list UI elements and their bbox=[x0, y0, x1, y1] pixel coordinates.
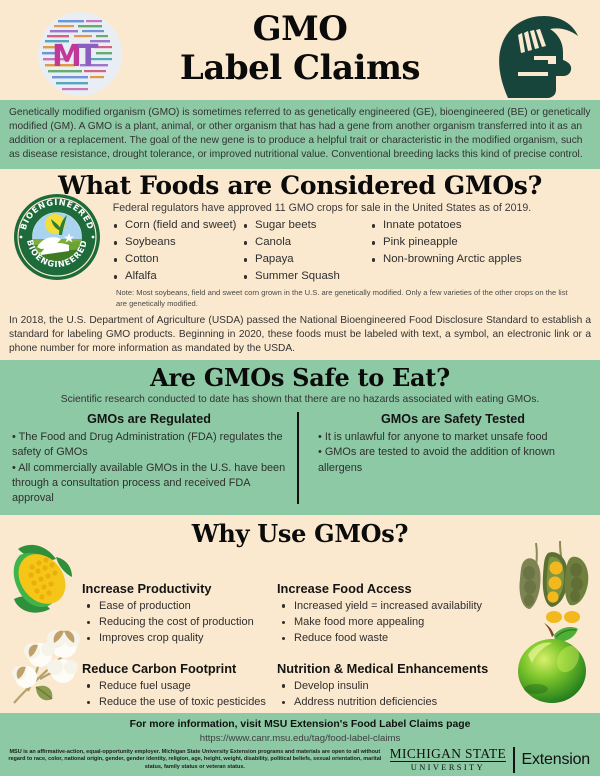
list-item: Non-browning Arctic apples bbox=[370, 251, 522, 268]
msu-line-1: MICHIGAN STATE bbox=[390, 747, 506, 762]
column-divider bbox=[297, 412, 299, 504]
list-item: Develop insulin bbox=[277, 678, 522, 694]
regulated-heading: GMOs are Regulated bbox=[12, 412, 286, 426]
list-item: Address nutrition deficiencies bbox=[277, 694, 522, 710]
tested-heading: GMOs are Safety Tested bbox=[318, 412, 588, 426]
cotton-illustration bbox=[6, 621, 88, 709]
list-item: Reduce the use of toxic pesticides bbox=[82, 694, 274, 710]
list-item: Corn (field and sweet) bbox=[112, 217, 242, 234]
why-block-productivity: Increase Productivity Ease of production… bbox=[82, 581, 272, 647]
regulated-body: • The Food and Drug Administration (FDA)… bbox=[12, 430, 286, 506]
list-item: Canola bbox=[242, 234, 370, 251]
extension-wordmark: Extension bbox=[522, 751, 590, 769]
why-block-nutrition-medical: Nutrition & Medical Enhancements Develop… bbox=[277, 661, 522, 711]
why-use-section: Why Use GMOs? bbox=[0, 515, 600, 719]
list-item: Papaya bbox=[242, 251, 370, 268]
logo-divider bbox=[513, 747, 514, 773]
footer-url-link[interactable]: https://www.canr.msu.edu/tag/food-label-… bbox=[0, 730, 600, 744]
intro-band: Genetically modified organism (GMO) is s… bbox=[0, 100, 600, 169]
list-item: Sugar beets bbox=[242, 217, 370, 234]
intro-paragraph: Genetically modified organism (GMO) is s… bbox=[0, 100, 600, 169]
block-title: Increase Food Access bbox=[277, 581, 512, 596]
msu-wordmark: MICHIGAN STATE UNIVERSITY bbox=[390, 747, 513, 773]
list-item: Reduce food waste bbox=[277, 630, 512, 646]
why-heading: Why Use GMOs? bbox=[0, 519, 600, 549]
usda-paragraph: In 2018, the U.S. Department of Agricult… bbox=[0, 309, 600, 360]
gmo-crop-columns: Corn (field and sweet) Soybeans Cotton A… bbox=[112, 217, 600, 285]
list-item: Alfalfa bbox=[112, 268, 242, 285]
list-item: Cotton bbox=[112, 251, 242, 268]
msu-line-2: UNIVERSITY bbox=[390, 762, 506, 773]
safety-heading: Are GMOs Safe to Eat? bbox=[0, 363, 600, 393]
infographic-page: M T GMO Label Claims bbox=[0, 0, 600, 776]
list-item: Ease of production bbox=[82, 598, 272, 614]
crop-column-3: Innate potatoes Pink pineapple Non-brown… bbox=[370, 217, 522, 285]
safety-columns: GMOs are Regulated • The Food and Drug A… bbox=[0, 412, 600, 506]
list-item: Reducing the cost of production bbox=[82, 614, 272, 630]
crop-column-2: Sugar beets Canola Papaya Summer Squash bbox=[242, 217, 370, 285]
corn-illustration bbox=[4, 537, 82, 623]
msu-extension-logo: MICHIGAN STATE UNIVERSITY Extension bbox=[390, 747, 594, 773]
safety-section: Are GMOs Safe to Eat? Scientific researc… bbox=[0, 360, 600, 514]
footer-bottom-row: MSU is an affirmative-action, equal-oppo… bbox=[0, 744, 600, 773]
safety-column-regulated: GMOs are Regulated • The Food and Drug A… bbox=[12, 412, 300, 506]
soybean-illustration bbox=[516, 537, 596, 629]
green-apple-illustration bbox=[510, 621, 594, 707]
list-item: Increased yield = increased availability bbox=[277, 598, 512, 614]
why-block-food-access: Increase Food Access Increased yield = i… bbox=[277, 581, 512, 647]
bioengineered-seal-icon: BIOENGINEERED BIOENGINEERED bbox=[11, 191, 103, 283]
list-item: Pink pineapple bbox=[370, 234, 522, 251]
list-item: Reduce fuel usage bbox=[82, 678, 274, 694]
crops-note: Note: Most soybeans, field and sweet cor… bbox=[116, 288, 600, 309]
list-item: Improves crop quality bbox=[82, 630, 272, 646]
crop-column-1: Corn (field and sweet) Soybeans Cotton A… bbox=[112, 217, 242, 285]
footer: For more information, visit MSU Extensio… bbox=[0, 713, 600, 776]
block-title: Increase Productivity bbox=[82, 581, 272, 596]
block-title: Nutrition & Medical Enhancements bbox=[277, 661, 522, 676]
list-item: Make food more appealing bbox=[277, 614, 512, 630]
tested-body: • It is unlawful for anyone to market un… bbox=[318, 430, 588, 476]
footer-legal-text: MSU is an affirmative-action, equal-oppo… bbox=[6, 749, 390, 772]
list-item: Innate potatoes bbox=[370, 217, 522, 234]
safety-column-tested: GMOs are Safety Tested • It is unlawful … bbox=[300, 412, 588, 506]
safety-subtitle: Scientific research conducted to date ha… bbox=[0, 394, 600, 405]
spartan-helmet-icon bbox=[478, 10, 586, 100]
list-item: Summer Squash bbox=[242, 268, 370, 285]
block-title: Reduce Carbon Footprint bbox=[82, 661, 274, 676]
list-item: Soybeans bbox=[112, 234, 242, 251]
header: M T GMO Label Claims bbox=[0, 0, 600, 100]
foods-section: What Foods are Considered GMOs? bbox=[0, 169, 600, 360]
footer-more-info: For more information, visit MSU Extensio… bbox=[0, 713, 600, 730]
